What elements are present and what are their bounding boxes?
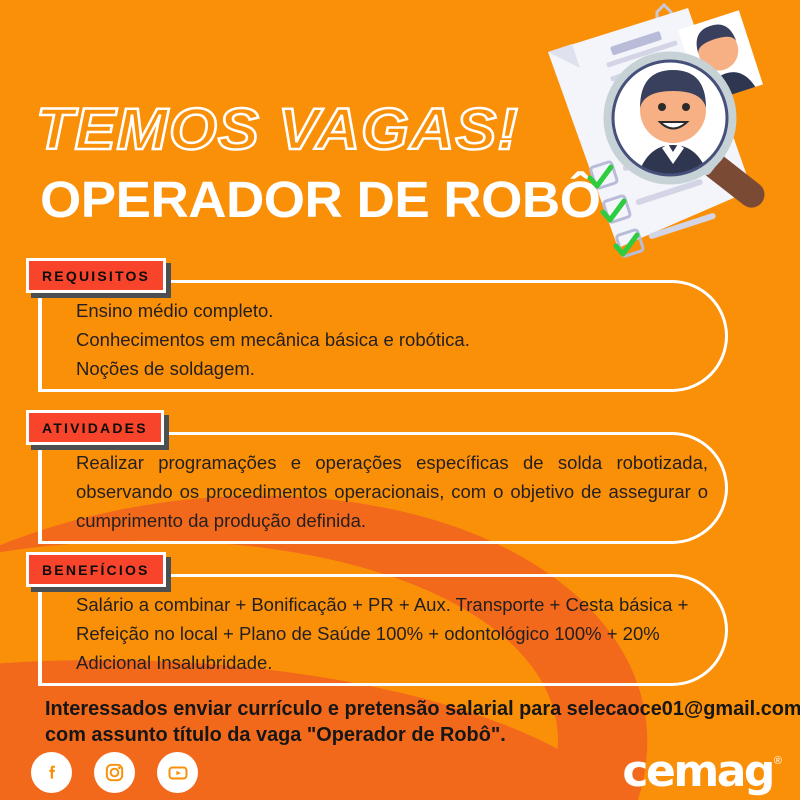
registered-mark: ® xyxy=(774,755,782,767)
social-links xyxy=(31,752,198,793)
section-line: Noções de soldagem. xyxy=(76,354,696,383)
section-content: Realizar programações e operações especí… xyxy=(76,448,708,535)
section-line: Ensino médio completo. xyxy=(76,296,696,325)
poster-kicker: TEMOS VAGAS! xyxy=(36,96,519,163)
brand-logo: cemag ® xyxy=(622,752,782,792)
call-to-action: Interessados enviar currículo e pretensã… xyxy=(45,696,763,748)
section-line: Salário a combinar + Bonificação + PR + … xyxy=(76,590,712,677)
section-line: Realizar programações e operações especí… xyxy=(76,448,708,535)
instagram-icon[interactable] xyxy=(94,752,135,793)
cta-line-2: com assunto título da vaga "Operador de … xyxy=(45,722,763,748)
facebook-icon[interactable] xyxy=(31,752,72,793)
section-line: Conhecimentos em mecânica básica e robót… xyxy=(76,325,696,354)
brand-name: cemag xyxy=(622,752,772,792)
section-badge: ATIVIDADES xyxy=(26,410,164,445)
section-content: Ensino médio completo. Conhecimentos em … xyxy=(76,296,696,383)
resume-with-magnifier-illustration xyxy=(510,0,800,260)
section-content: Salário a combinar + Bonificação + PR + … xyxy=(76,590,712,677)
job-posting-poster: TEMOS VAGAS! OPERADOR DE ROBÔ xyxy=(0,0,800,800)
youtube-icon[interactable] xyxy=(157,752,198,793)
section-badge: BENEFÍCIOS xyxy=(26,552,166,587)
cta-line-1: Interessados enviar currículo e pretensã… xyxy=(45,696,763,722)
section-badge: REQUISITOS xyxy=(26,258,166,293)
